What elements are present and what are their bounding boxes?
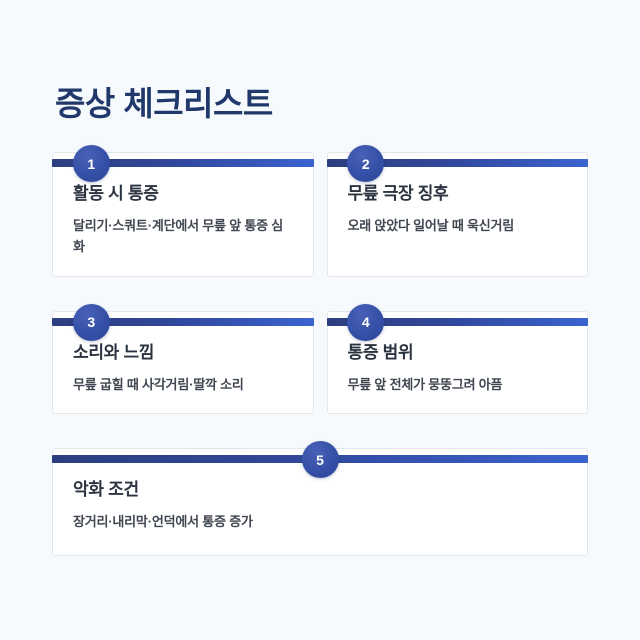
card-body: 장거리·내리막·언덕에서 통증 증가 bbox=[73, 511, 567, 532]
card-body: 오래 앉았다 일어날 때 욱신거림 bbox=[348, 215, 568, 236]
card-number-badge: 2 bbox=[347, 145, 384, 182]
card-number-badge: 1 bbox=[73, 145, 110, 182]
card-title: 소리와 느낌 bbox=[73, 342, 293, 365]
card-title: 활동 시 통증 bbox=[73, 183, 293, 206]
card-number-badge: 3 bbox=[73, 304, 110, 341]
card-number-badge: 5 bbox=[302, 441, 339, 478]
checklist-card-2[interactable]: 2 무릎 극장 징후 오래 앉았다 일어날 때 욱신거림 bbox=[327, 152, 589, 277]
checklist-card-3[interactable]: 3 소리와 느낌 무릎 굽힐 때 사각거림·딸깍 소리 bbox=[52, 311, 314, 414]
card-body: 무릎 굽힐 때 사각거림·딸깍 소리 bbox=[73, 374, 293, 395]
card-title: 통증 범위 bbox=[348, 342, 568, 365]
page-title: 증상 체크리스트 bbox=[55, 84, 273, 124]
checklist-card-1[interactable]: 1 활동 시 통증 달리기·스쿼트·계단에서 무릎 앞 통증 심화 bbox=[52, 152, 314, 277]
card-title: 무릎 극장 징후 bbox=[348, 183, 568, 206]
checklist-grid: 1 활동 시 통증 달리기·스쿼트·계단에서 무릎 앞 통증 심화 2 무릎 극… bbox=[52, 152, 588, 556]
infographic-page: 증상 체크리스트 1 활동 시 통증 달리기·스쿼트·계단에서 무릎 앞 통증 … bbox=[0, 0, 640, 640]
card-number-badge: 4 bbox=[347, 304, 384, 341]
checklist-card-5[interactable]: 5 악화 조건 장거리·내리막·언덕에서 통증 증가 bbox=[52, 448, 588, 556]
card-body: 무릎 앞 전체가 뭉뚱그려 아픔 bbox=[348, 374, 568, 395]
checklist-row-1: 1 활동 시 통증 달리기·스쿼트·계단에서 무릎 앞 통증 심화 2 무릎 극… bbox=[52, 152, 588, 277]
checklist-row-2: 3 소리와 느낌 무릎 굽힐 때 사각거림·딸깍 소리 4 통증 범위 무릎 앞… bbox=[52, 311, 588, 414]
card-body: 달리기·스쿼트·계단에서 무릎 앞 통증 심화 bbox=[73, 215, 293, 258]
checklist-card-4[interactable]: 4 통증 범위 무릎 앞 전체가 뭉뚱그려 아픔 bbox=[327, 311, 589, 414]
card-title: 악화 조건 bbox=[73, 479, 567, 502]
checklist-row-3: 5 악화 조건 장거리·내리막·언덕에서 통증 증가 bbox=[52, 448, 588, 556]
